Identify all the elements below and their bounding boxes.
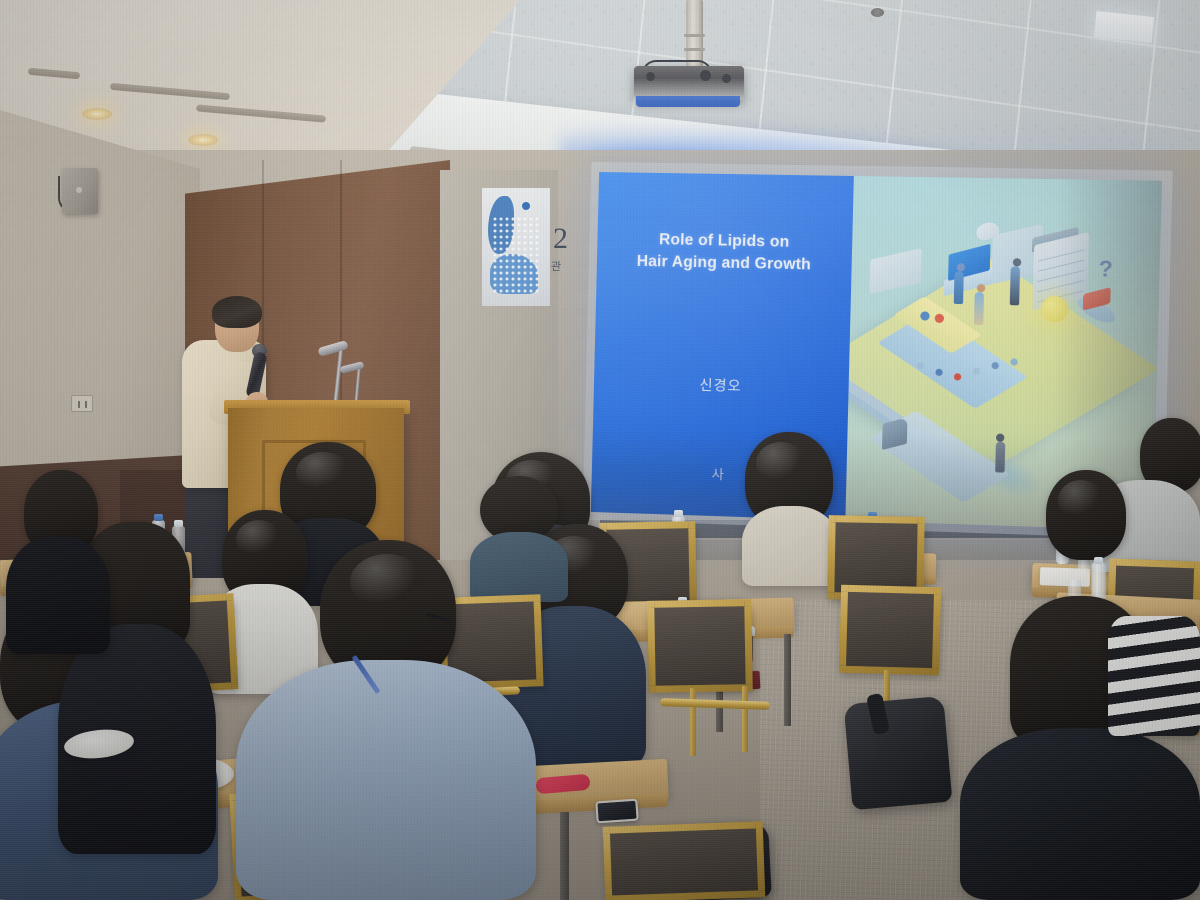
banner-number: 2 <box>553 222 567 256</box>
iso-flask-3 <box>954 373 961 380</box>
projector-lens-glow <box>636 96 740 107</box>
chair-mid-2[interactable] <box>839 585 941 676</box>
table-leg-5 <box>560 812 569 900</box>
projector-pole-ring-2 <box>684 48 705 51</box>
water-bottle-cap-8 <box>1094 557 1103 564</box>
water-bottle-cap-2 <box>174 520 183 527</box>
audience-p9-body <box>742 506 838 586</box>
banner-dot-accent <box>522 202 530 210</box>
iso-flask-5 <box>992 362 999 369</box>
iso-flask-2 <box>935 369 942 376</box>
audience-p10-striped-shirt <box>1108 616 1200 736</box>
hair-highlight-p3 <box>350 554 424 610</box>
audience-p13-body <box>6 536 110 654</box>
water-bottle-cap-3 <box>674 510 683 517</box>
audience-p12-body <box>960 728 1200 900</box>
iso-lower-person <box>995 442 1005 473</box>
banner-caption: 관 <box>551 258 561 274</box>
water-bottle-cap-1 <box>154 514 163 521</box>
projector-lens <box>722 74 731 83</box>
hair-highlight-p9 <box>756 442 806 484</box>
audience-p3-body <box>236 660 536 900</box>
smartphone[interactable] <box>595 799 638 824</box>
iso-flask-4 <box>973 368 980 375</box>
projector-pole-ring-1 <box>684 34 705 37</box>
conference-room-photo: 2 관 Role of Lipids on Hair Aging and Gro… <box>0 0 1200 900</box>
banner-dot-pattern <box>492 216 540 294</box>
wall-speaker-icon <box>62 168 98 214</box>
chair-foreground-center[interactable] <box>603 821 766 900</box>
iso-flask-6 <box>1010 358 1017 365</box>
chair-leg-2 <box>742 686 748 752</box>
recessed-downlight-1 <box>82 108 112 120</box>
wall-banner-poster <box>482 188 550 306</box>
iso-glassware-row <box>913 352 1038 386</box>
iso-flask-1 <box>917 362 924 369</box>
sprinkler-head-icon <box>871 8 884 17</box>
hair-highlight-p4 <box>236 520 282 558</box>
iso-question-mark-icon: ? <box>1098 256 1113 283</box>
iso-person-2 <box>974 292 984 325</box>
isometric-lab-illustration: ? <box>862 199 1146 512</box>
slide-presenter-name: 신경오 <box>594 372 849 399</box>
projector-knob-1 <box>646 72 655 81</box>
hair-highlight-p14 <box>296 452 350 492</box>
iso-shelf-icon <box>869 248 922 294</box>
iso-person-1 <box>954 271 964 304</box>
backpack-1[interactable] <box>844 696 953 810</box>
hair-highlight-p10 <box>1058 480 1104 520</box>
wall-outlet-icon <box>71 395 93 412</box>
slide-right-panel: ? <box>845 176 1161 531</box>
notepad-2[interactable] <box>1040 567 1091 587</box>
table-leg-4 <box>784 634 791 726</box>
chair-mid-1[interactable] <box>647 599 753 693</box>
projector-knob-2 <box>700 70 711 81</box>
iso-person-3 <box>1010 266 1020 305</box>
recessed-downlight-2 <box>188 134 218 146</box>
slide-title-line2: Hair Aging and Growth <box>597 250 852 278</box>
presenter-hair <box>212 296 262 328</box>
slide-title: Role of Lipids on Hair Aging and Growth <box>597 228 853 278</box>
audience-p7-body <box>470 532 568 602</box>
